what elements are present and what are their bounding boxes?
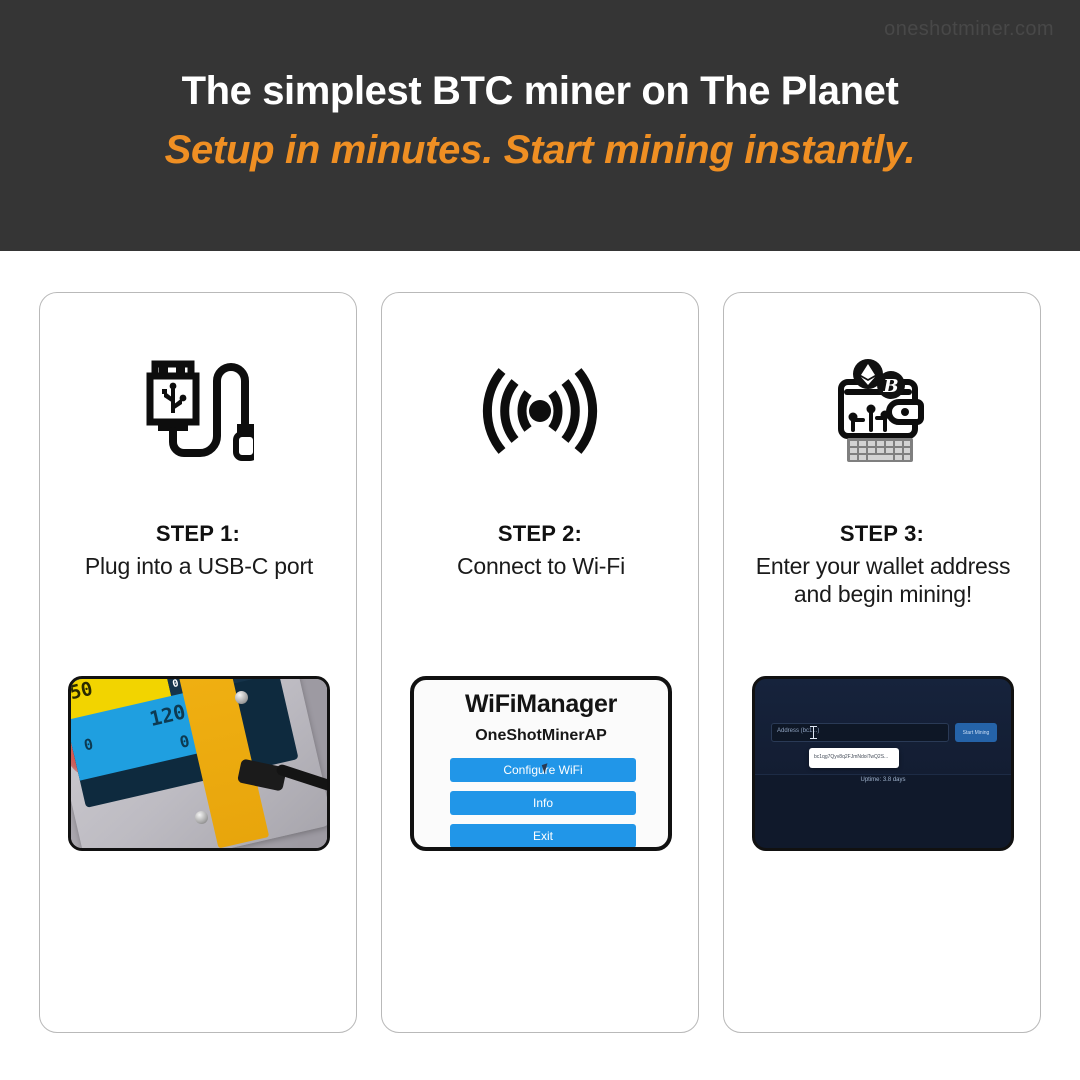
wifimanager-screenshot: WiFiManager OneShotMinerAP Configure WiF… bbox=[410, 676, 672, 851]
uptime-status: Uptime: 3.8 days bbox=[755, 777, 1011, 783]
address-suggestion-item[interactable]: bc1qg7Qyv8q2FJmNdoiTwQ2S... bbox=[814, 754, 894, 760]
miner-dashboard-screenshot: Address (bc1...) Start Mining bc1qg7Qyv8… bbox=[752, 676, 1014, 851]
exit-button[interactable]: Exit bbox=[450, 824, 636, 848]
device-photo: 50 0 13 0 43 13 120 0 0 bbox=[68, 676, 330, 851]
step-label: STEP 3: bbox=[724, 521, 1040, 547]
step-2-thumbnail: WiFiManager OneShotMinerAP Configure WiF… bbox=[410, 676, 672, 851]
step-label: STEP 2: bbox=[382, 521, 698, 547]
usb-cable-icon bbox=[40, 341, 356, 481]
text-cursor-icon bbox=[813, 726, 814, 739]
step-description: Plug into a USB-C port bbox=[54, 552, 344, 580]
wallet-address-input[interactable]: Address (bc1...) bbox=[771, 723, 949, 742]
address-suggestion-dropdown[interactable]: bc1qg7Qyv8q2FJmNdoiTwQ2S... bbox=[809, 748, 899, 768]
wifimanager-ssid: OneShotMinerAP bbox=[414, 727, 668, 745]
start-mining-button[interactable]: Start Mining bbox=[955, 723, 997, 742]
page-subtitle: Setup in minutes. Start mining instantly… bbox=[0, 127, 1080, 173]
step-card-3: B STEP 3: Enter your wa bbox=[723, 292, 1041, 1033]
info-button[interactable]: Info bbox=[450, 791, 636, 815]
page-title: The simplest BTC miner on The Planet bbox=[0, 68, 1080, 114]
crypto-wallet-keyboard-icon: B bbox=[724, 341, 1040, 481]
svg-text:B: B bbox=[882, 376, 898, 397]
step-label: STEP 1: bbox=[40, 521, 356, 547]
site-watermark: oneshotminer.com bbox=[884, 18, 1054, 41]
page-header: oneshotminer.com The simplest BTC miner … bbox=[0, 0, 1080, 251]
step-3-thumbnail: Address (bc1...) Start Mining bc1qg7Qyv8… bbox=[752, 676, 1014, 851]
step-card-1: STEP 1: Plug into a USB-C port 50 0 13 0… bbox=[39, 292, 357, 1033]
step-1-thumbnail: 50 0 13 0 43 13 120 0 0 bbox=[68, 676, 330, 851]
step-card-2: STEP 2: Connect to Wi-Fi WiFiManager One… bbox=[381, 292, 699, 1033]
wifimanager-title: WiFiManager bbox=[414, 690, 668, 719]
device-screw-top bbox=[235, 691, 248, 704]
device-screw-bottom bbox=[195, 811, 208, 824]
step-description: Connect to Wi-Fi bbox=[396, 552, 686, 580]
wifi-signal-icon bbox=[382, 341, 698, 481]
step-description: Enter your wallet address and begin mini… bbox=[738, 552, 1028, 608]
steps-container: STEP 1: Plug into a USB-C port 50 0 13 0… bbox=[39, 292, 1041, 1033]
